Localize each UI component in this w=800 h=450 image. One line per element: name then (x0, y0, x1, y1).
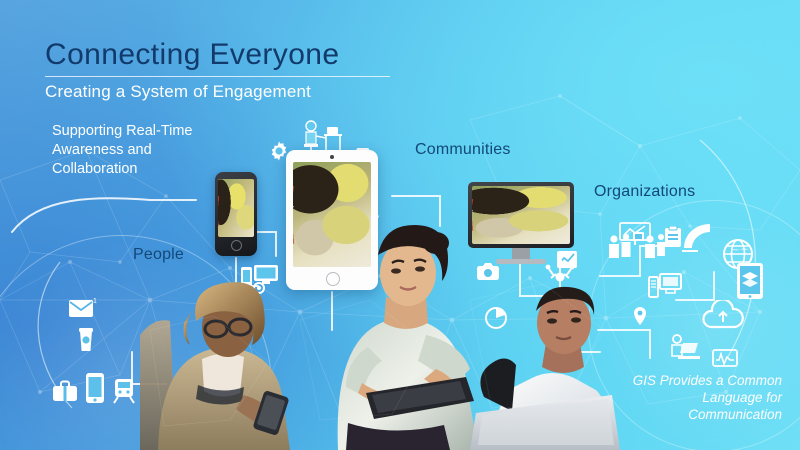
label-organizations: Organizations (594, 183, 695, 201)
page-title: Connecting Everyone (45, 38, 339, 72)
title-divider (45, 76, 390, 77)
caption-supporting: Supporting Real-Time Awareness and Colla… (52, 122, 237, 179)
caption-gis: GIS Provides a Common Language for Commu… (622, 372, 782, 423)
label-communities: Communities (415, 141, 511, 159)
page-subtitle: Creating a System of Engagement (45, 82, 311, 102)
label-people: People (133, 246, 184, 264)
slide-canvas: 1 (0, 0, 800, 450)
